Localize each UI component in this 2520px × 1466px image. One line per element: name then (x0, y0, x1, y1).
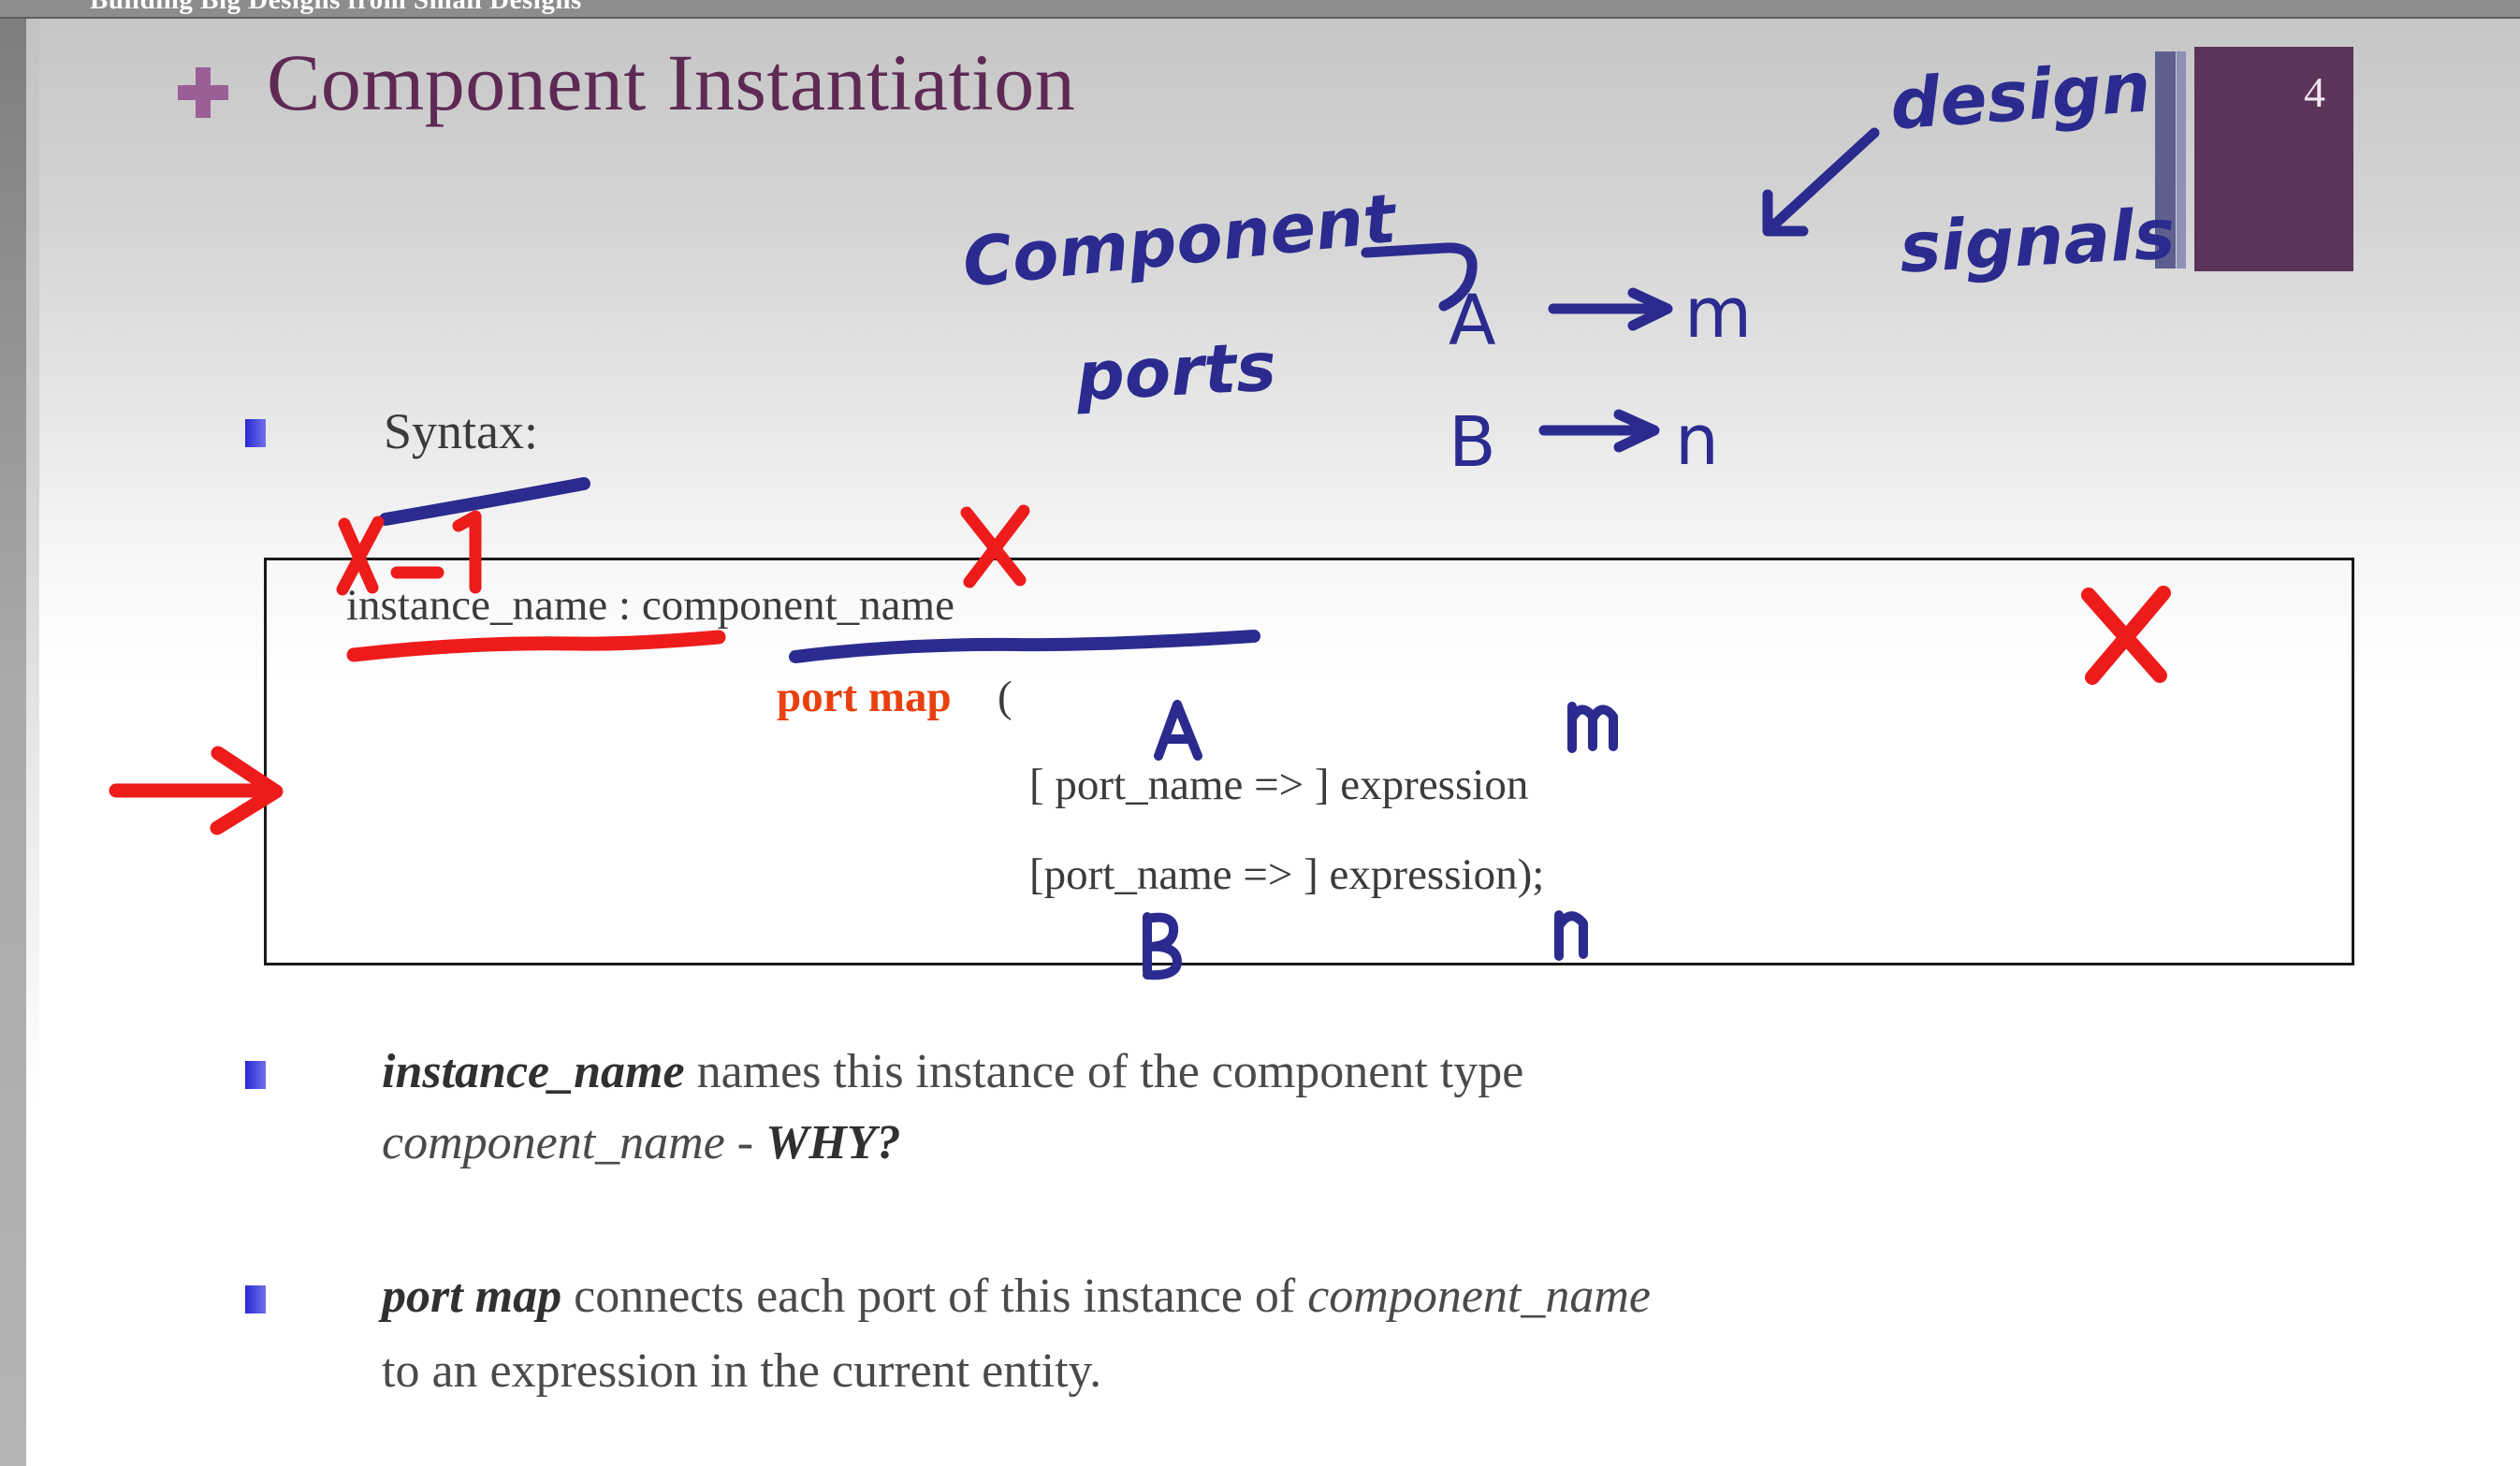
bullet-text-rest-2: connects each port of this instance of (561, 1270, 1307, 1323)
syntax-label: Syntax: (384, 402, 538, 460)
bullet-marker-instance-name (245, 1061, 266, 1089)
emphasis-why: WHY? (765, 1116, 900, 1169)
window-header-strip: Building Big Designs from Small Designs (0, 0, 2520, 19)
viewer-left-edge-inner (26, 19, 39, 1466)
plus-icon (178, 67, 228, 118)
slide-number-box: 4 (2194, 47, 2353, 271)
code-port-map-keyword: port map (777, 672, 952, 722)
bullet-text-port-map-line2: to an expression in the current entity. (382, 1343, 1101, 1399)
bullet-marker-port-map (245, 1285, 266, 1314)
code-line-declaration: instance_name : component_name (346, 580, 954, 631)
bullet-dash: - (725, 1116, 765, 1169)
slide-number-bar-light (2177, 51, 2186, 269)
annotation-a-top: A (1449, 281, 1496, 361)
viewer-left-edge (0, 19, 26, 1466)
code-line-port-assoc-1: [ port_name => ] expression (1029, 760, 1528, 810)
bullet-text-instance-name-line1: instance_name names this instance of the… (382, 1044, 1523, 1099)
annotation-signals: signals (1898, 194, 2178, 288)
window-title: Building Big Designs from Small Designs (90, 0, 582, 16)
bullet-text-port-map-line1: port map connects each port of this inst… (382, 1269, 1651, 1324)
annotation-m-top: m (1684, 273, 1752, 354)
presentation-slide: Building Big Designs from Small Designs … (0, 0, 2520, 1466)
annotation-n-top: n (1675, 400, 1719, 481)
code-line-port-assoc-2: [port_name => ] expression); (1029, 849, 1544, 900)
annotation-ports: ports (1074, 327, 1278, 415)
bullet-text-rest-1: names this instance of the component typ… (685, 1045, 1524, 1098)
code-open-paren: ( (998, 672, 1012, 722)
bullet-marker-syntax (245, 419, 266, 447)
bullet-text-instance-name-line2: component_name - WHY? (382, 1115, 901, 1170)
page-title: Component Instantiation (267, 36, 1075, 129)
slide-number: 4 (2304, 67, 2325, 117)
emphasis-component-name-2: component_name (1307, 1270, 1651, 1323)
emphasis-port-map: port map (382, 1270, 561, 1323)
annotation-b-top: B (1449, 402, 1496, 483)
emphasis-component-name-1: component_name (382, 1116, 725, 1169)
emphasis-instance-name: instance_name (382, 1045, 685, 1098)
